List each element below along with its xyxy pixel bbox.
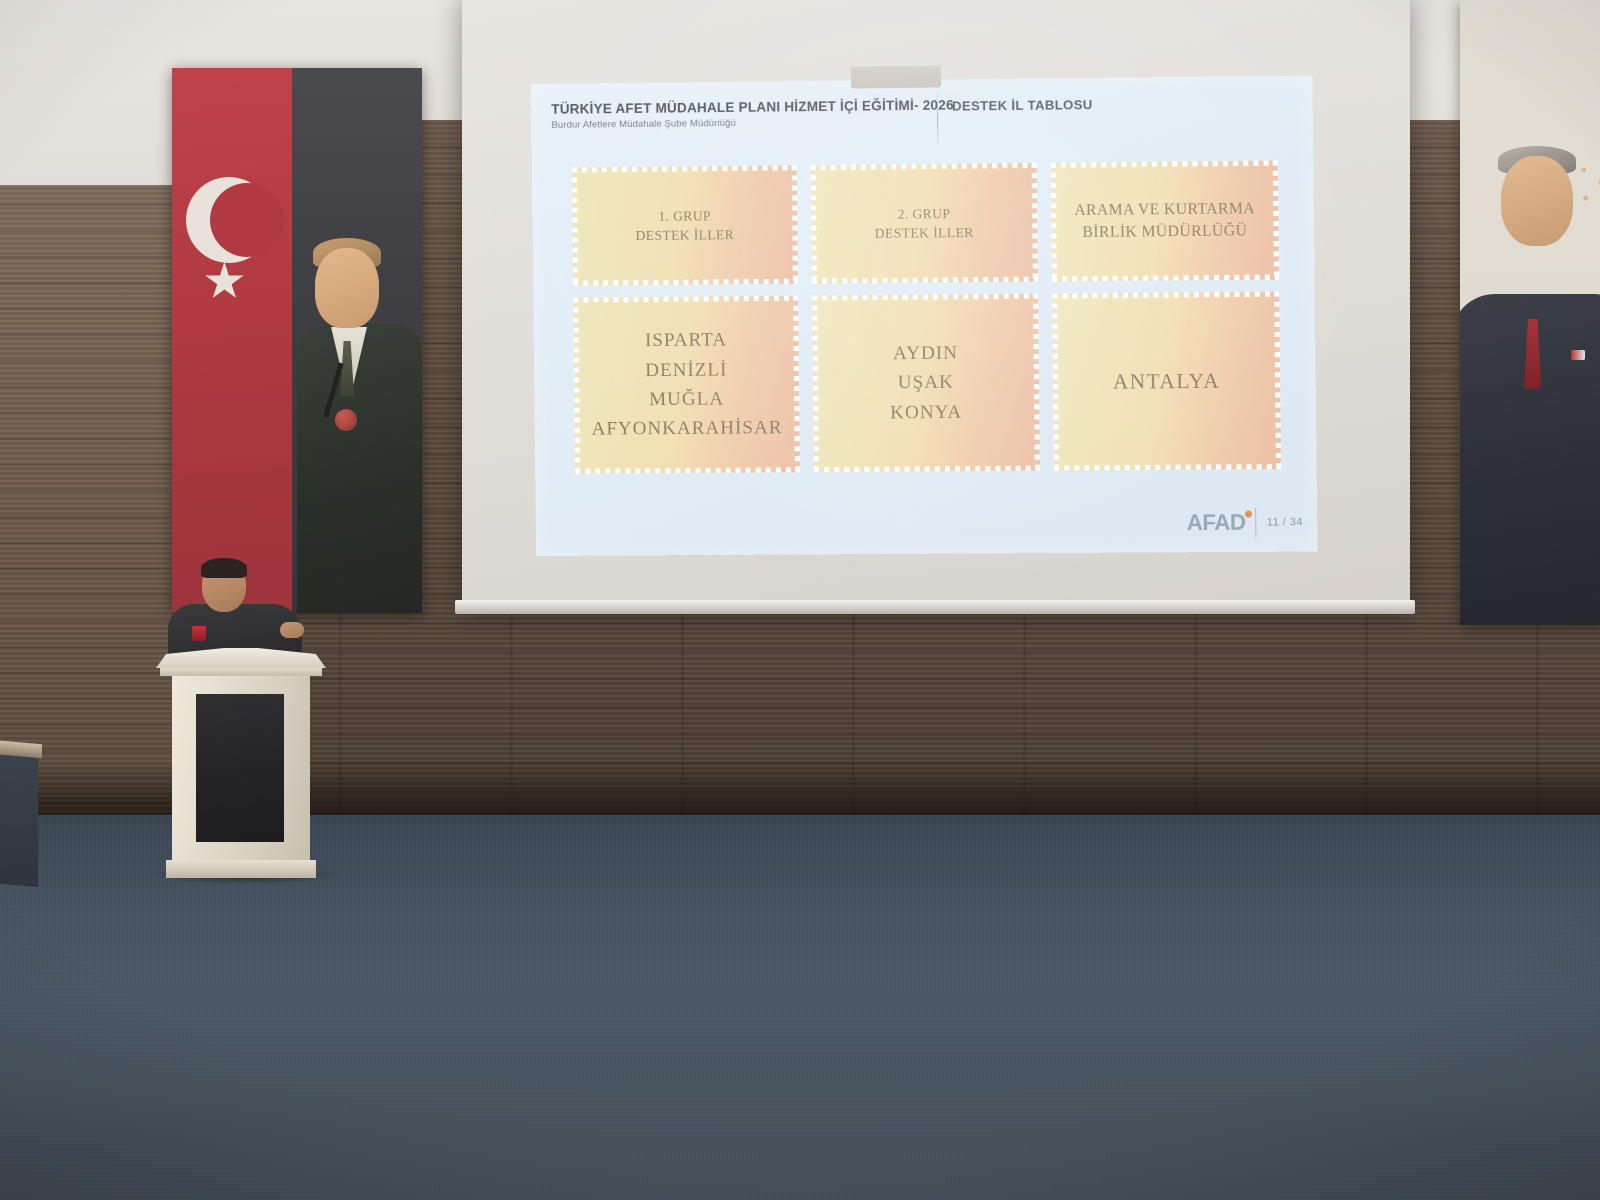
card-group-1-provinces: ISPARTA DENİZLİ MUĞLA AFYONKARAHİSAR [573,296,800,474]
afad-logo: AFAD [1187,510,1246,537]
turkish-flag-ataturk-banner [172,68,422,613]
card-text: ISPARTA DENİZLİ MUĞLA AFYONKARAHİSAR [590,325,782,444]
card-line: 1. GRUP [635,206,734,226]
card-text: AYDIN UŞAK KONYA [889,338,962,427]
card-line: 2. GRUP [874,204,973,224]
slide-section-title: DESTEK İL TABLOSU [952,97,1093,114]
card-line: UŞAK [890,368,962,398]
side-table [0,743,38,887]
card-group-2-provinces: AYDIN UŞAK KONYA [812,294,1040,472]
conference-hall-photo: TÜRKİYE AFET MÜDAHALE PLANI HİZMET İÇİ E… [0,0,1600,1200]
slide-header: TÜRKİYE AFET MÜDAHALE PLANI HİZMET İÇİ E… [545,88,1299,140]
slide-top-notch [851,66,941,89]
projection-screen-bottom-bar [455,600,1415,614]
presenter-hair [201,558,247,578]
card-text: ANTALYA [1113,364,1221,398]
slide-title: TÜRKİYE AFET MÜDAHALE PLANI HİZMET İÇİ E… [551,98,954,117]
card-group-2-header: 2. GRUP DESTEK İLLER [811,163,1038,284]
card-sar-unit-header: ARAMA VE KURTARMA BİRLİK MÜDÜRLÜĞÜ [1051,161,1279,282]
ataturk-medal [335,409,357,431]
presenter-badge [192,626,206,641]
podium-front-panel [196,694,284,842]
card-line: ANTALYA [1113,364,1221,398]
flag-pin-icon [1571,350,1585,360]
afad-logo-dot-icon [1245,511,1252,518]
card-line: ISPARTA [590,325,781,356]
slide-footer: AFAD 11 / 34 [1187,507,1304,538]
wood-paneled-wall-left [0,180,180,820]
president-portrait-banner [1460,0,1600,625]
card-line: DESTEK İLLER [636,225,735,245]
card-line: AFYONKARAHİSAR [591,414,782,445]
card-sar-unit-province: ANTALYA [1052,292,1281,471]
card-line: BİRLİK MÜDÜRLÜĞÜ [1074,220,1255,244]
turkish-flag-panel [172,68,292,613]
podium [156,648,326,880]
podium-base [166,860,316,878]
star-icon [204,261,244,301]
support-provinces-grid: 1. GRUP DESTEK İLLER 2. GRUP DESTEK İLLE… [572,161,1281,488]
projected-slide: TÜRKİYE AFET MÜDAHALE PLANI HİZMET İÇİ E… [531,76,1318,556]
card-line: DESTEK İLLER [875,223,974,243]
crescent-icon [186,177,272,263]
upper-wall-left-corner [0,0,175,185]
podium-top [156,648,326,668]
page-number: 11 / 34 [1267,516,1303,528]
card-text: 2. GRUP DESTEK İLLER [874,204,973,243]
president-face [1501,156,1573,246]
decorative-stars-icon [1577,163,1600,233]
ataturk-suit [297,324,422,613]
card-line: DENİZLİ [591,355,782,386]
card-line: AYDIN [889,338,961,368]
card-line: KONYA [890,398,962,428]
card-group-1-header: 1. GRUP DESTEK İLLER [572,165,798,285]
card-text: ARAMA VE KURTARMA BİRLİK MÜDÜRLÜĞÜ [1074,198,1255,244]
afad-logo-text: AFAD [1187,510,1246,536]
ataturk-face [315,248,379,328]
slide-subtitle: Burdur Afetlere Müdahale Şube Müdürlüğü [551,118,736,131]
footer-divider [1255,508,1256,538]
ataturk-portrait-panel [292,68,422,613]
card-line: MUĞLA [591,384,782,415]
presenter-hand [280,622,304,638]
card-line: ARAMA VE KURTARMA [1074,198,1255,222]
card-text: 1. GRUP DESTEK İLLER [635,206,734,245]
